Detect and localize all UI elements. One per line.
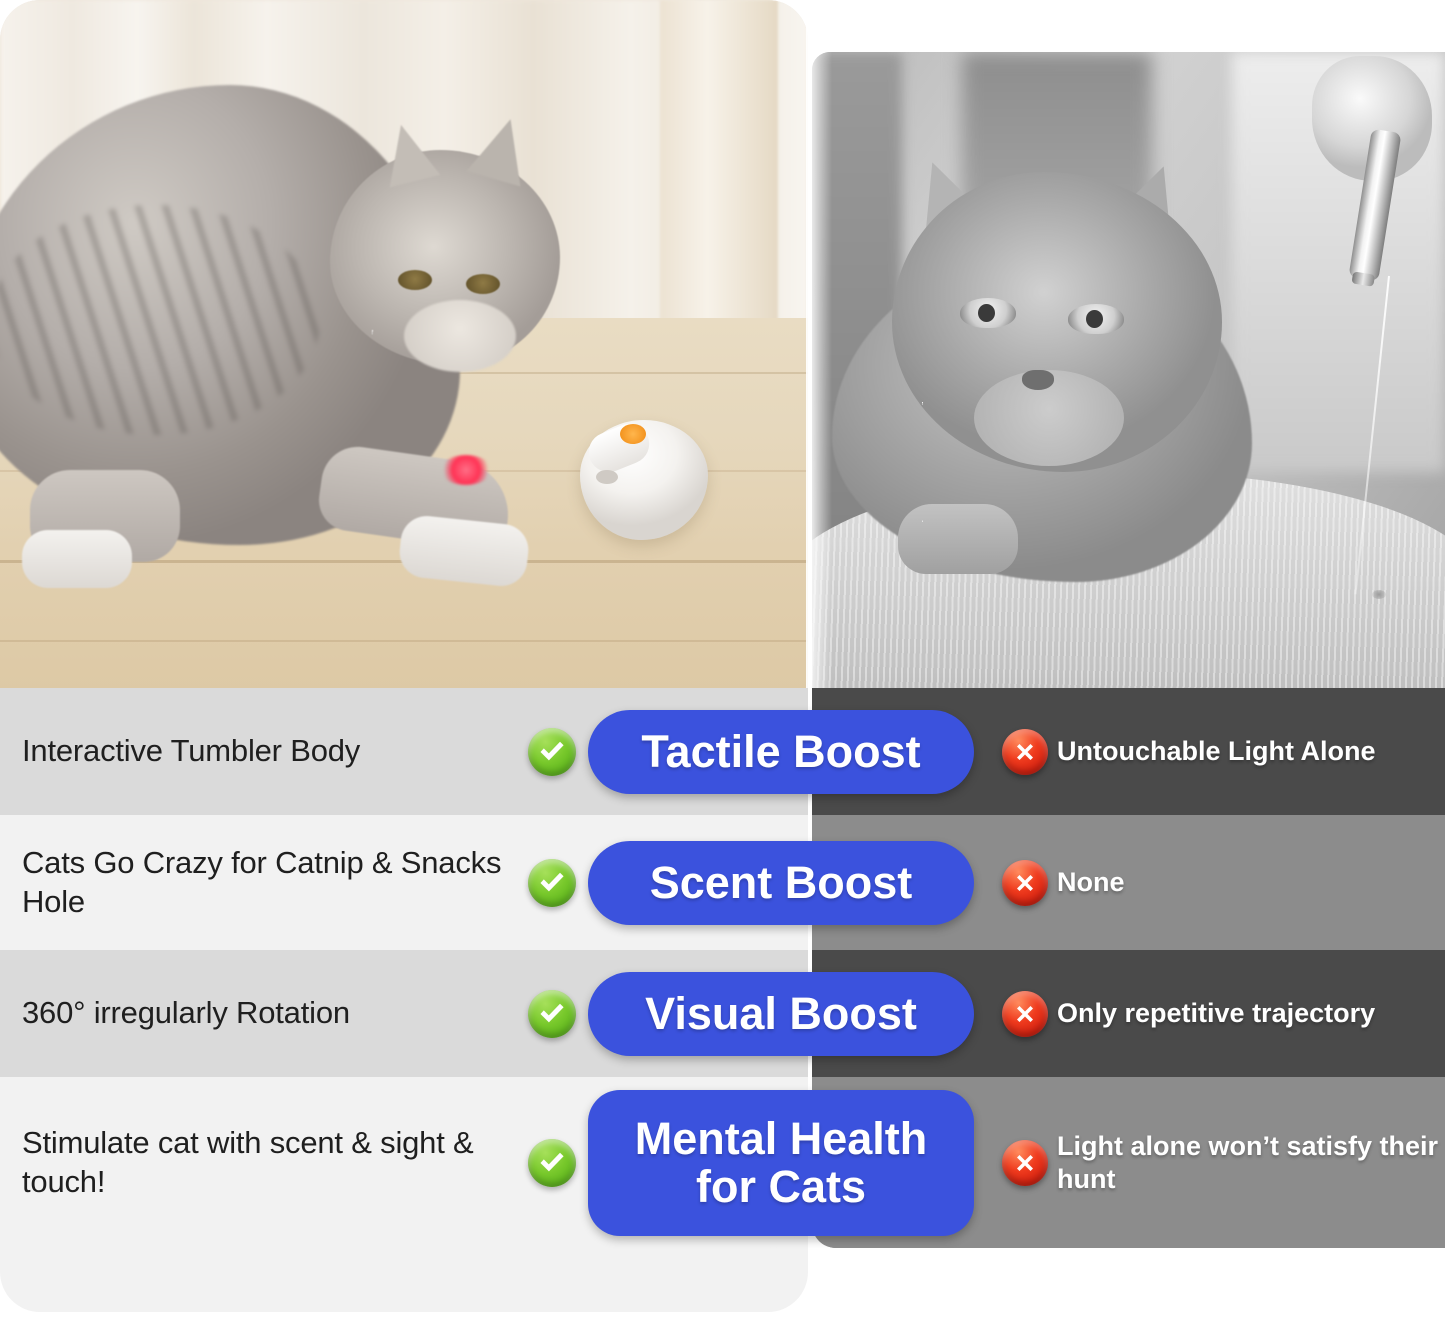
drawback-label: Untouchable Light Alone [1057,735,1375,767]
photo-furniture-leg [660,0,778,340]
cat-rear-paw [22,530,132,588]
competitor-drawback: Only repetitive trajectory [1002,991,1375,1037]
toy-laser-emitter [620,424,646,444]
table-row: Stimulate cat with scent & sight & touch… [0,1077,1445,1248]
cat-watching-laser-pointer-photo-bw [812,52,1445,690]
benefit-badge-line1: Mental Health [635,1113,928,1164]
competitor-drawback: Untouchable Light Alone [1002,729,1375,775]
feature-label: Cats Go Crazy for Catnip & Snacks Hole [22,844,527,921]
table-row: 360° irregularly Rotation Only repetitiv… [0,950,1445,1077]
row-center-column: Tactile Boost [528,688,974,815]
cat-eye-left [398,270,432,290]
benefit-badge: Tactile Boost [588,710,974,794]
cat-whiskers [922,402,1222,522]
benefit-badge: Scent Boost [588,841,974,925]
laser-dot-on-cushion [1372,590,1386,599]
cat-eye-left [960,298,1016,328]
check-circle-icon [528,990,576,1038]
feature-comparison-table: Interactive Tumbler Body Untouchable Lig… [0,688,1445,1248]
competitor-drawback: Light alone won’t satisfy their hunt [1002,1130,1445,1195]
row-center-column: Scent Boost [528,815,974,950]
cat-whiskers [372,330,532,420]
cat-eye-right [1068,304,1124,334]
row-center-column: Mental Health for Cats [528,1077,974,1248]
feature-label: Interactive Tumbler Body [22,732,527,770]
comparison-infographic: Interactive Tumbler Body Untouchable Lig… [0,0,1445,1328]
drawback-label: Light alone won’t satisfy their hunt [1057,1130,1445,1195]
x-circle-icon [1002,1140,1048,1186]
check-circle-icon [528,1139,576,1187]
benefit-badge: Visual Boost [588,972,974,1056]
x-circle-icon [1002,729,1048,775]
drawback-label: Only repetitive trajectory [1057,997,1375,1029]
cat-nose [1022,370,1054,390]
red-laser-dot [440,455,492,485]
row-center-column: Visual Boost [528,950,974,1077]
check-circle-icon [528,728,576,776]
benefit-badge-line2: for Cats [696,1161,866,1212]
table-row: Cats Go Crazy for Catnip & Snacks Hole N… [0,815,1445,950]
drawback-label: None [1057,866,1125,898]
benefit-badge: Mental Health for Cats [588,1090,974,1236]
floor-plank-line [0,640,808,642]
x-circle-icon [1002,860,1048,906]
cat-eye-right [466,274,500,294]
check-circle-icon [528,859,576,907]
toy-snack-hole [596,470,618,484]
table-row: Interactive Tumbler Body Untouchable Lig… [0,688,1445,815]
feature-label: Stimulate cat with scent & sight & touch… [22,1124,527,1201]
feature-label: 360° irregularly Rotation [22,994,527,1032]
cat-playing-with-tumbler-toy-photo [0,0,808,690]
competitor-drawback: None [1002,860,1125,906]
x-circle-icon [1002,991,1048,1037]
